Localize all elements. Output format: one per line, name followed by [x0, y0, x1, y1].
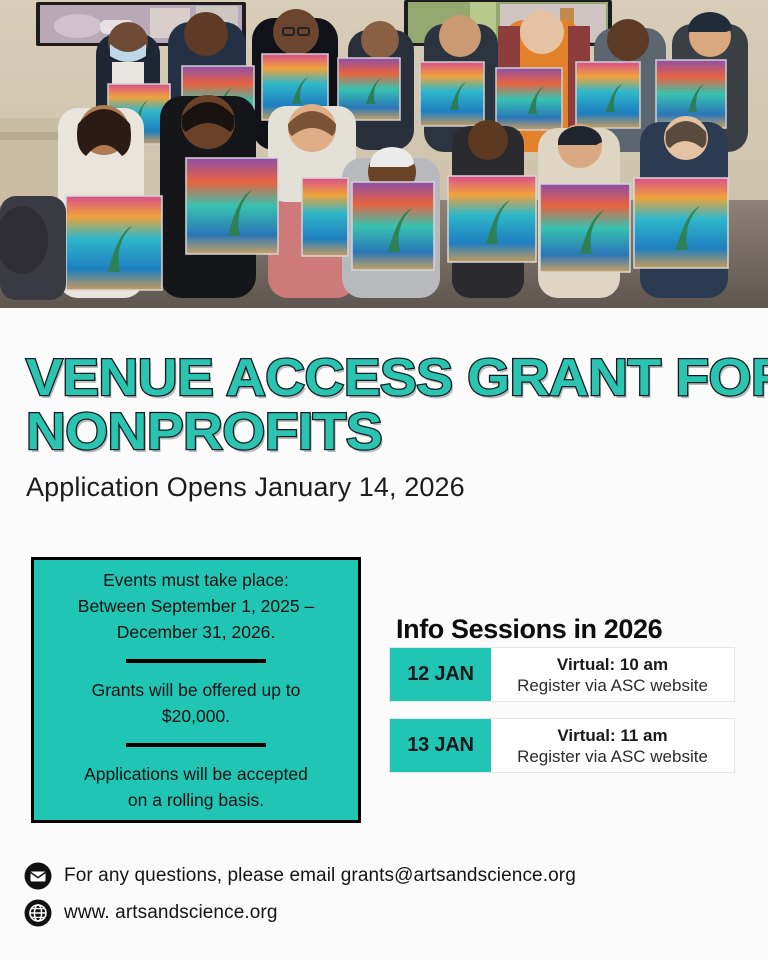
- info-sessions-heading: Info Sessions in 2026: [396, 614, 662, 645]
- email-contact-row: For any questions, please email grants@a…: [24, 862, 576, 890]
- website-contact-row: www. artsandscience.org: [24, 899, 576, 927]
- divider-1: [126, 659, 266, 663]
- session-date-badge: 13 JAN: [390, 719, 491, 772]
- session-date-badge: 12 JAN: [390, 648, 491, 701]
- website-text: www. artsandscience.org: [64, 902, 278, 924]
- event-dates-text: Events must take place: Between Septembe…: [78, 567, 314, 645]
- application-open-date: Application Opens January 14, 2026: [26, 472, 465, 503]
- group-painting-photo: [0, 0, 768, 308]
- session-details: Virtual: 10 am Register via ASC website: [491, 648, 734, 701]
- session-title: Virtual: 10 am: [557, 654, 668, 675]
- email-text: For any questions, please email grants@a…: [64, 865, 576, 887]
- info-sessions-list: 12 JAN Virtual: 10 am Register via ASC w…: [389, 647, 735, 789]
- session-title: Virtual: 11 am: [557, 725, 667, 746]
- session-register-note: Register via ASC website: [517, 675, 708, 696]
- session-row[interactable]: 12 JAN Virtual: 10 am Register via ASC w…: [389, 647, 735, 702]
- session-register-note: Register via ASC website: [517, 746, 708, 767]
- grant-amount-text: Grants will be offered up to $20,000.: [92, 677, 301, 729]
- page-title: VENUE ACCESS GRANT FOR NONPROFITS: [26, 351, 768, 459]
- globe-icon: [24, 899, 52, 927]
- rolling-basis-text: Applications will be accepted on a rolli…: [84, 761, 308, 813]
- eligibility-box: Events must take place: Between Septembe…: [31, 557, 361, 823]
- divider-2: [126, 743, 266, 747]
- footer-contact: For any questions, please email grants@a…: [24, 862, 576, 936]
- envelope-icon: [24, 862, 52, 890]
- session-details: Virtual: 11 am Register via ASC website: [491, 719, 734, 772]
- session-row[interactable]: 13 JAN Virtual: 11 am Register via ASC w…: [389, 718, 735, 773]
